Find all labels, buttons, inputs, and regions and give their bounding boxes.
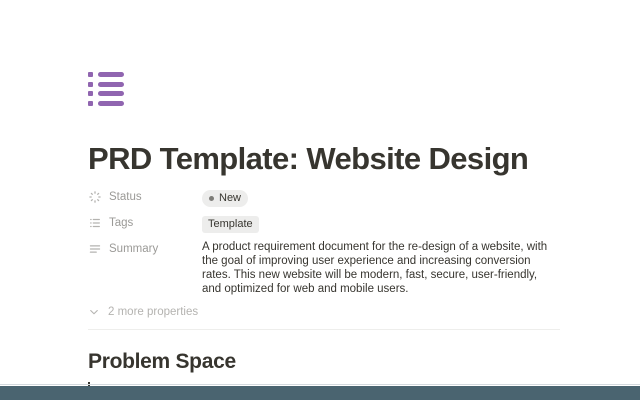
property-label-summary[interactable]: Summary: [88, 236, 202, 262]
icon-row: [88, 82, 132, 87]
property-row-summary: Summary A product requirement document f…: [88, 236, 560, 296]
property-row-status: Status New: [88, 184, 560, 210]
properties-panel: Status New: [88, 184, 560, 330]
window-bottom-border: [0, 384, 640, 385]
property-value-status[interactable]: New: [202, 184, 560, 210]
icon-row: [88, 91, 132, 96]
property-label-text: Status: [109, 184, 142, 210]
more-properties-toggle[interactable]: 2 more properties: [88, 302, 238, 322]
page-icon-bulleted-list[interactable]: [88, 72, 132, 112]
properties-divider: [88, 329, 560, 330]
property-label-text: Tags: [109, 210, 133, 236]
bulleted-list-icon: [88, 216, 102, 230]
property-value-tags[interactable]: Template: [202, 210, 560, 236]
property-label-text: Summary: [109, 236, 158, 262]
text-align-left-icon: [88, 242, 102, 256]
bullet-bar: [98, 82, 124, 87]
document-page: PRD Template: Website Design Status: [0, 0, 640, 392]
status-dot-icon: [209, 196, 214, 201]
page-title[interactable]: PRD Template: Website Design: [88, 140, 528, 178]
icon-row: [88, 72, 132, 77]
property-value-summary[interactable]: A product requirement document for the r…: [202, 236, 560, 296]
tag-chip[interactable]: Template: [202, 216, 259, 233]
bullet-bar: [98, 91, 124, 96]
desktop-taskbar[interactable]: [0, 386, 640, 400]
section-heading-problem-space[interactable]: Problem Space: [88, 348, 236, 376]
bullet-dot: [88, 101, 93, 106]
icon-row: [88, 101, 132, 106]
bullet-dot: [88, 72, 93, 77]
status-badge-text: New: [219, 190, 241, 207]
status-spinner-icon: [88, 190, 102, 204]
bullet-bar: [98, 72, 124, 77]
chevron-down-icon: [88, 306, 100, 318]
bullet-bar: [98, 101, 124, 106]
more-properties-label: 2 more properties: [108, 306, 198, 318]
property-row-tags: Tags Template: [88, 210, 560, 236]
summary-text: A product requirement document for the r…: [202, 239, 558, 296]
property-label-tags[interactable]: Tags: [88, 210, 202, 236]
status-badge[interactable]: New: [202, 190, 248, 207]
bullet-dot: [88, 82, 93, 87]
property-label-status[interactable]: Status: [88, 184, 202, 210]
bullet-dot: [88, 91, 93, 96]
